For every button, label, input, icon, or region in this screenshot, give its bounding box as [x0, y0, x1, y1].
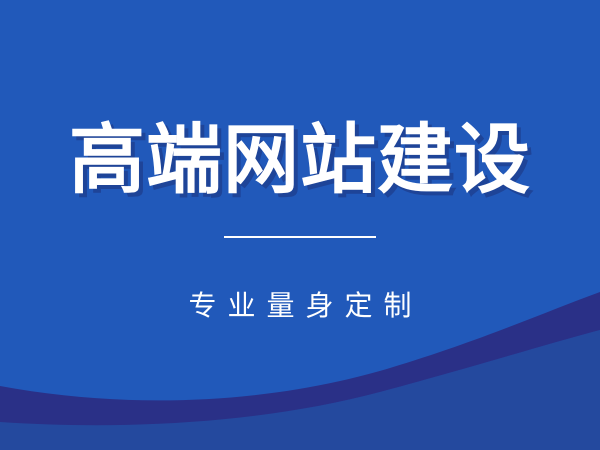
- banner-title: 高端网站建设: [0, 118, 600, 204]
- title-divider: [224, 236, 376, 238]
- divider-container: [0, 236, 600, 238]
- promo-banner: 高端网站建设 专业量身定制: [0, 0, 600, 450]
- banner-subtitle: 专业量身定制: [0, 288, 600, 324]
- banner-content: 高端网站建设 专业量身定制: [0, 0, 600, 450]
